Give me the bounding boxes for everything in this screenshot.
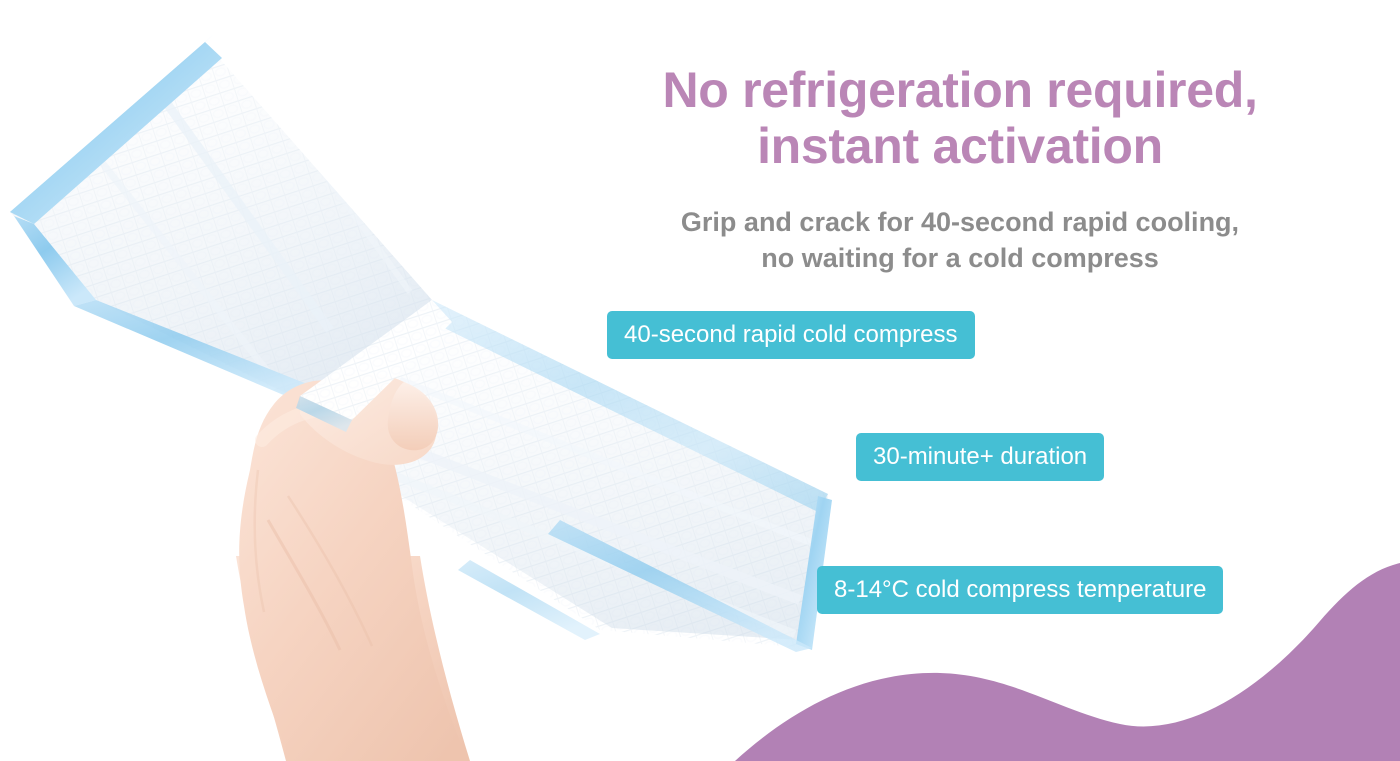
text-content: No refrigeration required, instant activ… [560, 0, 1400, 761]
feature-badge-label: 30-minute+ duration [873, 445, 1087, 469]
feature-badge-duration: 30-minute+ duration [856, 433, 1104, 481]
headline: No refrigeration required, instant activ… [560, 62, 1360, 174]
feature-badge-rapid-cold-compress: 40-second rapid cold compress [607, 311, 975, 359]
feature-badge-label: 8-14°C cold compress temperature [834, 578, 1206, 602]
subtitle-line-2: no waiting for a cold compress [560, 241, 1360, 277]
headline-line-1: No refrigeration required, [560, 62, 1360, 118]
subtitle: Grip and crack for 40-second rapid cooli… [560, 205, 1360, 277]
feature-badge-temperature: 8-14°C cold compress temperature [817, 566, 1223, 614]
subtitle-line-1: Grip and crack for 40-second rapid cooli… [560, 205, 1360, 241]
headline-line-2: instant activation [560, 118, 1360, 174]
product-feature-banner: No refrigeration required, instant activ… [0, 0, 1400, 761]
hand-holding-compress [236, 373, 470, 761]
feature-badge-label: 40-second rapid cold compress [624, 323, 958, 347]
